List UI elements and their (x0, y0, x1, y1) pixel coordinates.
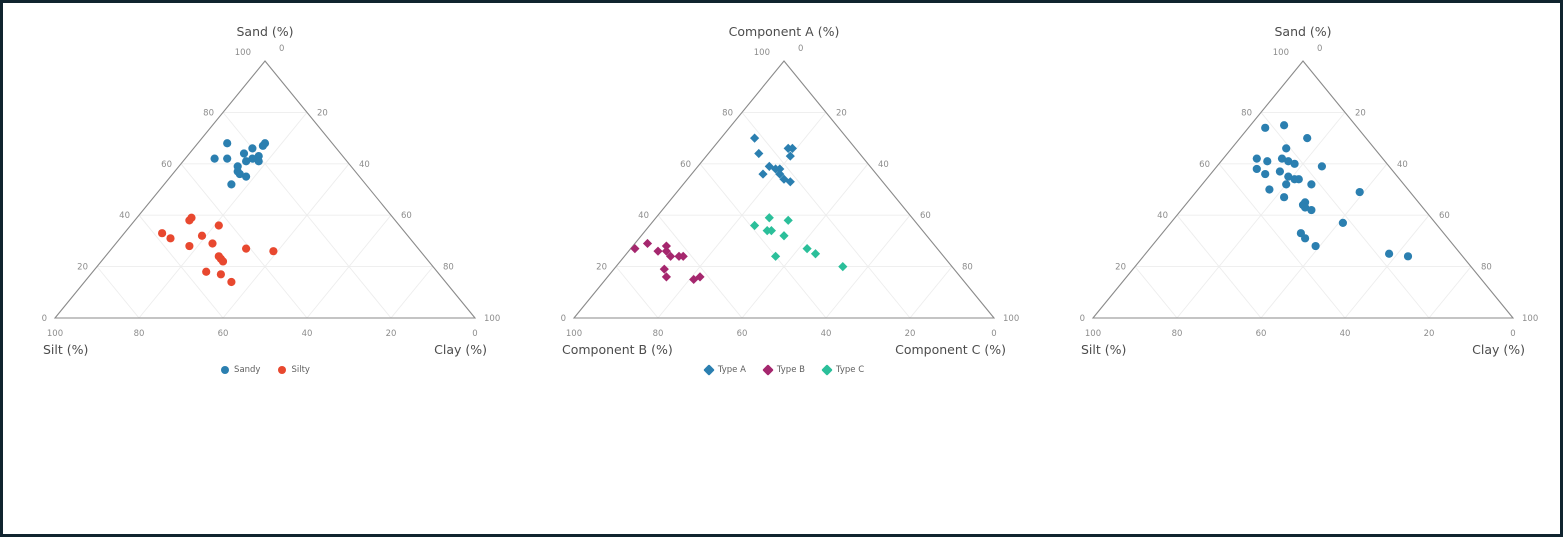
data-point[interactable] (1291, 160, 1299, 168)
tick-right: 20 (317, 108, 328, 118)
data-point[interactable] (1253, 155, 1261, 163)
legend-marker-icon (821, 364, 832, 375)
data-point[interactable] (1276, 167, 1284, 175)
ternary-canvas: 100806040200204060802040608010000100Sand… (6, 6, 525, 476)
tick-right: 80 (443, 263, 454, 273)
tick-left: 20 (77, 263, 88, 273)
corner-top-left: 100 (1273, 48, 1289, 58)
axis-triangle (55, 61, 475, 318)
tick-labels: 100806040200204060802040608010000100 (561, 44, 1020, 339)
legend-label: Sandy (234, 365, 260, 375)
tick-bottom: 80 (134, 329, 145, 339)
tick-bottom: 60 (1256, 329, 1267, 339)
tick-bottom: 100 (566, 329, 582, 339)
legend-item[interactable]: Silty (278, 359, 309, 378)
tick-right: 40 (878, 160, 889, 170)
tick-left: 20 (596, 263, 607, 273)
data-point[interactable] (217, 270, 225, 278)
legend: Type AType BType C (525, 358, 1044, 378)
tick-bottom: 40 (302, 329, 313, 339)
tick-left: 40 (1157, 211, 1168, 221)
tick-right: 20 (836, 108, 847, 118)
data-point[interactable] (750, 134, 759, 143)
data-point[interactable] (1295, 175, 1303, 183)
data-point[interactable] (269, 247, 277, 255)
corner-bottom-right: 100 (484, 314, 500, 324)
data-point[interactable] (198, 232, 206, 240)
axis-triangle (1093, 61, 1513, 318)
data-point[interactable] (765, 213, 774, 222)
tick-bottom: 0 (472, 329, 477, 339)
data-point[interactable] (630, 244, 639, 253)
data-point[interactable] (248, 144, 256, 152)
legend-label: Type A (718, 365, 746, 375)
tick-labels: 100806040200204060802040608010000100 (1080, 44, 1539, 339)
corner-top-left: 100 (235, 48, 251, 58)
data-point[interactable] (223, 155, 231, 163)
axis-title-right: Component C (%) (895, 342, 1006, 357)
legend-item[interactable]: Type A (705, 359, 746, 378)
legend: SandySilty (6, 358, 525, 378)
data-point[interactable] (242, 245, 250, 253)
tick-bottom: 60 (218, 329, 229, 339)
data-point[interactable] (227, 278, 235, 286)
data-point[interactable] (240, 149, 248, 157)
data-point[interactable] (1404, 252, 1412, 260)
legend-marker-icon (278, 366, 286, 374)
tick-bottom: 20 (386, 329, 397, 339)
tick-left: 80 (1241, 108, 1252, 118)
axis-title-left: Component B (%) (562, 342, 673, 357)
tick-bottom: 60 (737, 329, 748, 339)
data-point[interactable] (187, 214, 195, 222)
data-point[interactable] (1318, 162, 1326, 170)
corner-bottom-right: 100 (1003, 314, 1019, 324)
data-point[interactable] (1263, 157, 1271, 165)
axis-title-top: Sand (%) (236, 24, 293, 39)
legend-label: Silty (291, 365, 309, 375)
tick-bottom: 40 (1340, 329, 1351, 339)
legend-label: Type B (777, 365, 805, 375)
data-point[interactable] (758, 169, 767, 178)
ternary-plot-2: 100806040200204060802040608010000100Comp… (525, 6, 1044, 476)
data-point[interactable] (750, 221, 759, 230)
tick-bottom: 20 (1424, 329, 1435, 339)
tick-left: 60 (1199, 160, 1210, 170)
series-silty (158, 214, 278, 286)
tick-bottom: 100 (1085, 329, 1101, 339)
data-point[interactable] (1280, 121, 1288, 129)
tick-bottom: 0 (1510, 329, 1515, 339)
grid-lines (1135, 112, 1471, 318)
legend-marker-icon (703, 364, 714, 375)
axis-title-left: Silt (%) (43, 342, 88, 357)
data-point[interactable] (185, 242, 193, 250)
data-point[interactable] (754, 149, 763, 158)
ternary-plot-3: 100806040200204060802040608010000100Sand… (1044, 6, 1563, 476)
legend-item[interactable]: Type B (764, 359, 805, 378)
tick-bottom: 80 (653, 329, 664, 339)
tick-left: 60 (680, 160, 691, 170)
tick-right: 40 (359, 160, 370, 170)
series-type-a (750, 134, 797, 187)
axis-triangle (574, 61, 994, 318)
data-point[interactable] (208, 239, 216, 247)
data-point[interactable] (786, 151, 795, 160)
data-point[interactable] (1282, 144, 1290, 152)
data-point[interactable] (779, 231, 788, 240)
tick-left: 20 (1115, 263, 1126, 273)
data-point[interactable] (653, 247, 662, 256)
data-point[interactable] (223, 139, 231, 147)
data-point[interactable] (211, 155, 219, 163)
axis-title-right: Clay (%) (434, 342, 487, 357)
data-point[interactable] (215, 221, 223, 229)
corner-bottom-right: 100 (1522, 314, 1538, 324)
series-type-b (630, 239, 704, 284)
tick-right: 20 (1355, 108, 1366, 118)
data-point[interactable] (261, 139, 269, 147)
corner-top-left: 100 (754, 48, 770, 58)
data-point[interactable] (1339, 219, 1347, 227)
tick-right: 80 (1481, 263, 1492, 273)
data-point[interactable] (202, 268, 210, 276)
data-point[interactable] (1280, 193, 1288, 201)
legend-item[interactable]: Type C (823, 359, 864, 378)
tick-bottom: 0 (991, 329, 996, 339)
tick-left: 60 (161, 160, 172, 170)
data-point[interactable] (242, 173, 250, 181)
ternary-plot-1: 100806040200204060802040608010000100Sand… (6, 6, 525, 476)
legend-item[interactable]: Sandy (221, 359, 260, 378)
data-point[interactable] (1303, 134, 1311, 142)
data-point[interactable] (219, 257, 227, 265)
tick-bottom: 20 (905, 329, 916, 339)
tick-labels: 100806040200204060802040608010000100 (42, 44, 501, 339)
tick-bottom: 80 (1172, 329, 1183, 339)
data-point[interactable] (1261, 170, 1269, 178)
axis-title-top: Sand (%) (1274, 24, 1331, 39)
data-point[interactable] (643, 239, 652, 248)
data-point[interactable] (1265, 185, 1273, 193)
data-point[interactable] (227, 180, 235, 188)
data-point[interactable] (811, 249, 820, 258)
corner-bottom-left: 0 (561, 314, 566, 324)
series-samples (1253, 121, 1412, 260)
data-point[interactable] (166, 234, 174, 242)
corner-top-right: 0 (279, 44, 284, 54)
data-point[interactable] (1282, 180, 1290, 188)
data-point[interactable] (158, 229, 166, 237)
corner-bottom-left: 0 (1080, 314, 1085, 324)
grid-lines (616, 112, 952, 318)
tick-right: 80 (962, 263, 973, 273)
corner-top-right: 0 (1317, 44, 1322, 54)
corner-top-right: 0 (798, 44, 803, 54)
data-point[interactable] (784, 216, 793, 225)
ternary-canvas: 100806040200204060802040608010000100Comp… (525, 6, 1044, 476)
data-point[interactable] (660, 265, 669, 274)
axis-title-left: Silt (%) (1081, 342, 1126, 357)
tick-bottom: 100 (47, 329, 63, 339)
page-frame: 100806040200204060802040608010000100Sand… (0, 0, 1563, 537)
tick-left: 40 (638, 211, 649, 221)
data-point[interactable] (1312, 242, 1320, 250)
data-point[interactable] (803, 244, 812, 253)
tick-left: 80 (203, 108, 214, 118)
legend-label: Type C (836, 365, 864, 375)
ternary-canvas: 100806040200204060802040608010000100Sand… (1044, 6, 1563, 476)
legend-marker-icon (762, 364, 773, 375)
data-point[interactable] (1261, 124, 1269, 132)
data-point[interactable] (1253, 165, 1261, 173)
tick-right: 60 (920, 211, 931, 221)
tick-left: 80 (722, 108, 733, 118)
tick-right: 60 (401, 211, 412, 221)
data-point[interactable] (1307, 180, 1315, 188)
ternary-figure-row: 100806040200204060802040608010000100Sand… (6, 6, 1563, 537)
data-point[interactable] (1385, 250, 1393, 258)
legend-marker-icon (221, 366, 229, 374)
axis-title-top: Component A (%) (729, 24, 840, 39)
corner-bottom-left: 0 (42, 314, 47, 324)
data-point[interactable] (1301, 234, 1309, 242)
data-point[interactable] (1307, 206, 1315, 214)
data-point[interactable] (771, 252, 780, 261)
axis-title-right: Clay (%) (1472, 342, 1525, 357)
data-point[interactable] (1356, 188, 1364, 196)
tick-bottom: 40 (821, 329, 832, 339)
tick-right: 40 (1397, 160, 1408, 170)
data-point[interactable] (662, 272, 671, 281)
data-point[interactable] (242, 157, 250, 165)
tick-right: 60 (1439, 211, 1450, 221)
data-point[interactable] (838, 262, 847, 271)
tick-left: 40 (119, 211, 130, 221)
